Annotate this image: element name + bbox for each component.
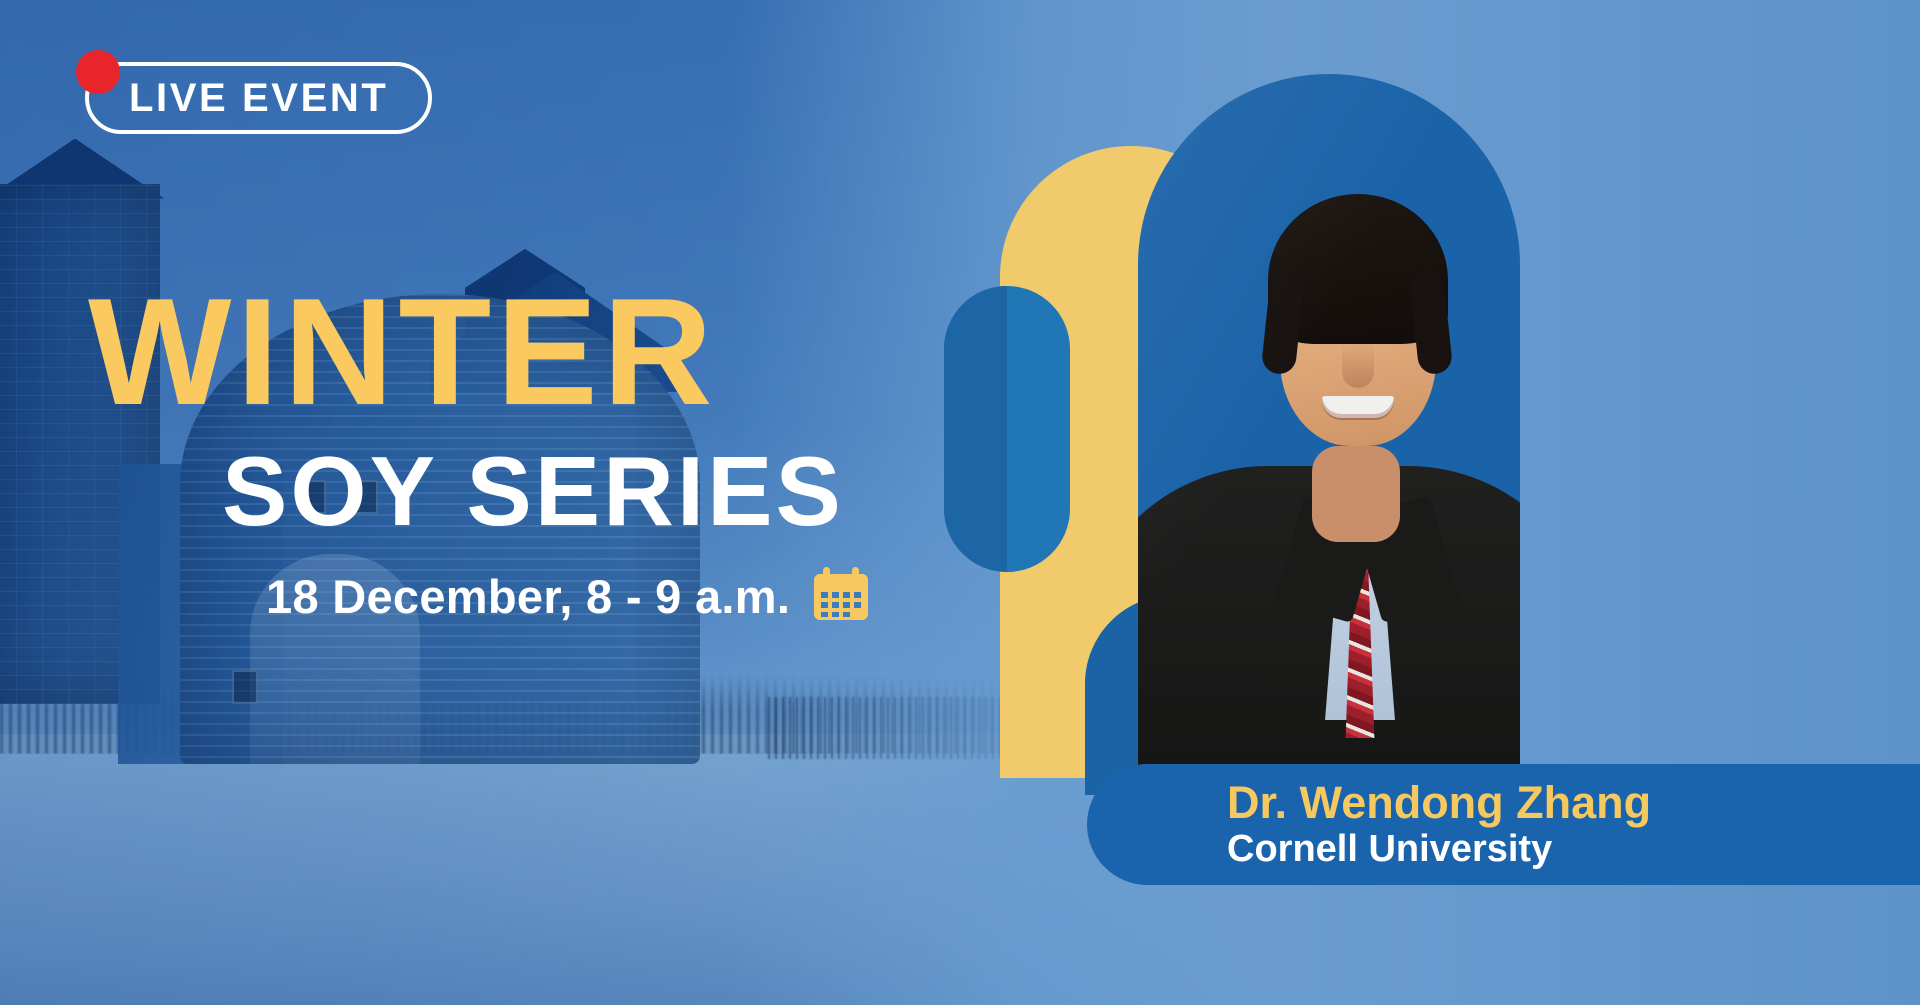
portrait-highlight [1138,74,1520,782]
speaker-affiliation: Cornell University [1227,828,1552,871]
event-promo-banner: LIVE EVENT WINTER SOY SERIES 18 December… [0,0,1920,1005]
event-date-text: 18 December, 8 - 9 a.m. [266,569,790,624]
live-event-badge: LIVE EVENT [85,62,432,134]
live-record-dot-icon [76,50,120,94]
live-event-label: LIVE EVENT [129,78,388,118]
title-primary: WINTER [88,276,870,428]
title-secondary: SOY SERIES [222,442,870,540]
event-date-row: 18 December, 8 - 9 a.m. [266,566,870,627]
headline-block: WINTER SOY SERIES 18 December, 8 - 9 a.m… [88,276,870,627]
speaker-portrait [1138,74,1520,782]
speaker-nameplate: Dr. Wendong Zhang Cornell University [1087,764,1920,885]
mid-blue-pill-shadow [944,286,1007,572]
speaker-name: Dr. Wendong Zhang [1227,779,1651,828]
calendar-icon [812,566,870,627]
